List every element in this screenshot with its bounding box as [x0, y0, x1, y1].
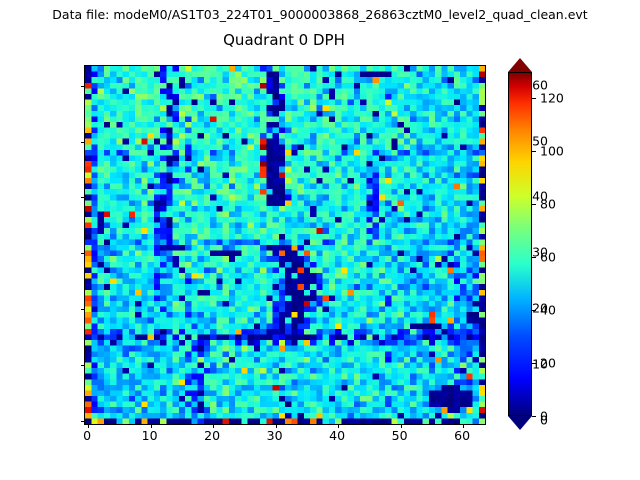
colorbar-gradient: [508, 72, 532, 416]
x-tick-mark: [338, 424, 339, 428]
x-tick-label: 20: [204, 428, 220, 443]
colorbar-tick-mark: [532, 98, 536, 99]
heatmap-axes: [84, 65, 486, 425]
x-tick-label: 10: [142, 428, 158, 443]
colorbar-tick-label: 20: [540, 356, 556, 371]
x-tick-label: 60: [454, 428, 470, 443]
colorbar-tick-label: 100: [540, 144, 564, 159]
x-tick-label: 30: [267, 428, 283, 443]
colorbar-tick-mark: [532, 257, 536, 258]
colorbar-tick-mark: [532, 151, 536, 152]
x-tick-label: 50: [392, 428, 408, 443]
y-tick-mark: [81, 86, 85, 87]
y-tick-mark: [81, 142, 85, 143]
data-file-caption: Data file: modeM0/AS1T03_224T01_90000038…: [0, 7, 640, 22]
x-tick-mark: [276, 424, 277, 428]
y-tick-mark: [81, 309, 85, 310]
y-tick-label: 60: [532, 77, 548, 92]
colorbar-tick-label: 0: [540, 409, 548, 424]
colorbar-min-extend-arrow: [508, 416, 532, 430]
y-tick-mark: [81, 421, 85, 422]
x-tick-mark: [213, 424, 214, 428]
colorbar-tick-label: 40: [540, 303, 556, 318]
colorbar-tick-mark: [532, 363, 536, 364]
x-tick-label: 40: [329, 428, 345, 443]
y-tick-mark: [81, 253, 85, 254]
colorbar-tick-label: 80: [540, 197, 556, 212]
colorbar-tick-label: 120: [540, 91, 564, 106]
x-tick-mark: [151, 424, 152, 428]
x-tick-mark: [401, 424, 402, 428]
colorbar-tick-label: 60: [540, 250, 556, 265]
colorbar-tick-mark: [532, 204, 536, 205]
matplotlib-figure: Data file: modeM0/AS1T03_224T01_90000038…: [0, 0, 640, 480]
x-tick-label: 0: [83, 428, 91, 443]
colorbar: 020406080100120: [508, 58, 532, 430]
x-tick-mark: [463, 424, 464, 428]
detector-pixel-heatmap: [85, 66, 485, 424]
colorbar-tick-mark: [532, 310, 536, 311]
colorbar-max-extend-arrow: [508, 58, 532, 72]
y-tick-mark: [81, 197, 85, 198]
colorbar-tick-mark: [532, 416, 536, 417]
x-tick-mark: [88, 424, 89, 428]
plot-title: Quadrant 0 DPH: [84, 31, 484, 49]
y-tick-mark: [81, 365, 85, 366]
